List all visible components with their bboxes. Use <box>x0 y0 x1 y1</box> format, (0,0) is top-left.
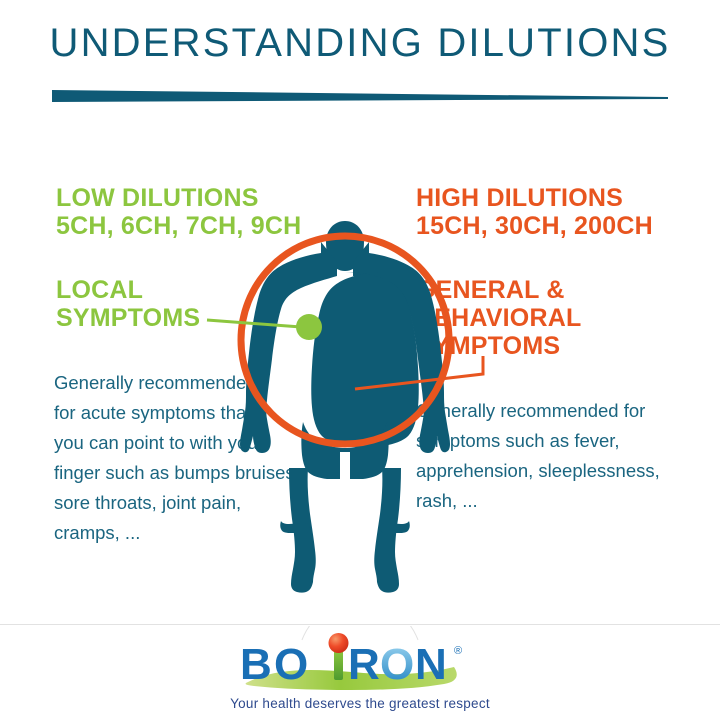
general-symptoms-leader-line <box>355 356 483 389</box>
logo-letter-n: N <box>415 640 447 689</box>
body-diagram <box>0 0 720 720</box>
logo-stem <box>334 650 343 680</box>
brand-tagline: Your health deserves the greatest respec… <box>0 696 720 711</box>
footer: B O R N O ® Your health deserves the gre… <box>0 624 720 720</box>
logo-letter-r: R <box>348 640 380 689</box>
title-block: UNDERSTANDING DILUTIONS <box>0 22 720 64</box>
logo-arc-divider <box>302 626 418 640</box>
logo-registered-mark: ® <box>454 645 462 657</box>
infographic-canvas: UNDERSTANDING DILUTIONS LOW DILUTIONS 5C… <box>0 0 720 720</box>
local-symptoms-leader-line <box>207 320 301 327</box>
boiron-logo[interactable]: B O R N O ® <box>230 626 490 692</box>
general-behavioral-symptoms-label: GENERAL & BEHAVIORAL SYMPTOMS <box>416 276 581 360</box>
title-underline-wedge <box>52 90 668 104</box>
footer-divider <box>0 624 720 625</box>
logo-letter-o1: O <box>274 640 308 689</box>
local-symptom-dot <box>296 314 322 340</box>
logo-letter-b: B <box>240 640 272 689</box>
boiron-logo-graphic: B O R N O ® <box>230 626 490 692</box>
high-dilutions-description: Generally recommended for symptoms such … <box>416 396 684 516</box>
low-dilutions-description: Generally recommended for acute symptoms… <box>54 368 344 548</box>
logo-letter-o2: O <box>380 640 414 689</box>
page-title: UNDERSTANDING DILUTIONS <box>0 22 720 64</box>
low-dilutions-heading: LOW DILUTIONS 5CH, 6CH, 7CH, 9CH <box>56 184 301 240</box>
local-symptoms-label: LOCAL SYMPTOMS <box>56 276 200 332</box>
high-dilutions-heading: HIGH DILUTIONS 15CH, 30CH, 200CH <box>416 184 653 240</box>
logo-flower-bud <box>329 633 349 653</box>
